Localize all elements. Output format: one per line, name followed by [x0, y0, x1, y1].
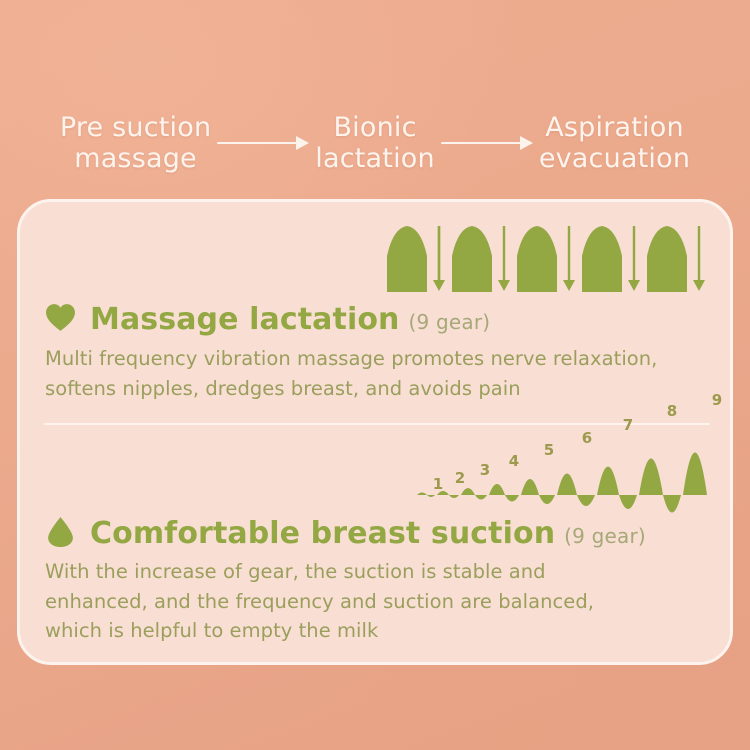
massage-heading: Massage lactation (9 gear) [44, 296, 490, 337]
massage-pulse-humps [387, 226, 687, 292]
flow-step-bionic-lactation: Bionic lactation [315, 112, 435, 175]
gear-label-8: 8 [667, 402, 677, 420]
gear-label-6: 6 [582, 429, 592, 447]
arrow-shaft [217, 142, 301, 144]
suction-description: With the increase of gear, the suction i… [45, 557, 705, 646]
infographic-page: Pre suction massage Bionic lactation Asp… [0, 0, 750, 750]
flow-step-aspiration-evacuation: Aspiration evacuation [539, 112, 690, 175]
massage-gear-badge: (9 gear) [409, 310, 491, 334]
water-drop-icon [44, 515, 77, 548]
gear-label-9: 9 [712, 391, 722, 409]
massage-description: Multi frequency vibration massage promot… [45, 344, 705, 403]
feature-card: Massage lactation (9 gear) Multi frequen… [17, 199, 733, 665]
suction-title: Comfortable breast suction [90, 516, 555, 551]
gear-label-4: 4 [509, 452, 519, 470]
gear-label-2: 2 [455, 469, 465, 487]
gear-label-3: 3 [480, 461, 490, 479]
arrow-shaft [441, 142, 525, 144]
arrow-head [520, 136, 533, 150]
suction-heading: Comfortable breast suction (9 gear) [44, 510, 646, 551]
massage-title: Massage lactation [90, 302, 400, 337]
arrow-right-icon [441, 133, 533, 153]
gear-label-5: 5 [544, 441, 554, 459]
process-flow: Pre suction massage Bionic lactation Asp… [0, 104, 750, 182]
suction-gear-badge: (9 gear) [564, 524, 646, 548]
heart-icon [44, 301, 77, 334]
arrow-right-icon [217, 133, 309, 153]
flow-step-pre-suction-massage: Pre suction massage [60, 112, 211, 175]
arrow-head [296, 136, 309, 150]
gear-label-7: 7 [623, 416, 633, 434]
gear-label-1: 1 [433, 475, 443, 493]
massage-pulse-wave-chart [383, 222, 713, 292]
